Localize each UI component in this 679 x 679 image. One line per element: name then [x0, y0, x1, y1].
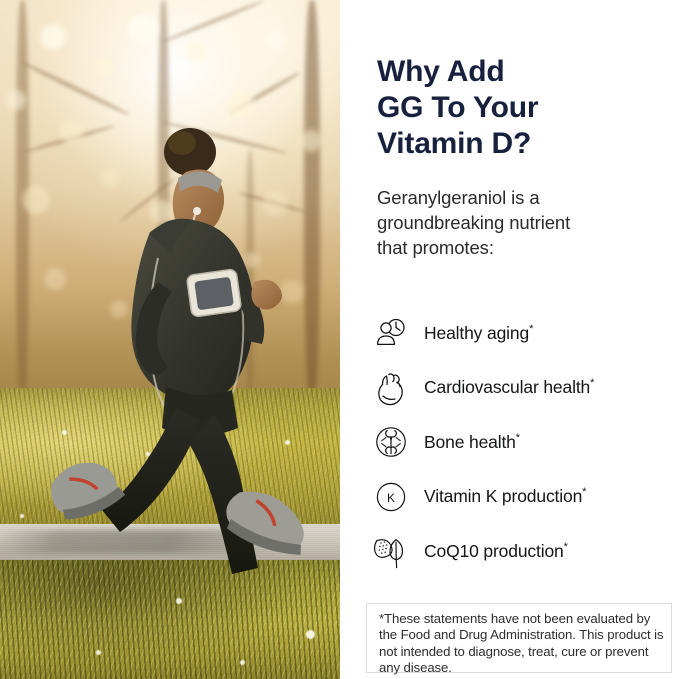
subhead-line-1: Geranylgeraniol is a: [377, 187, 540, 208]
list-item: CoQ10 production*: [368, 524, 678, 579]
letter-k-glyph: K: [387, 491, 395, 505]
asterisk-marker: *: [564, 541, 568, 553]
person-clock-aging-icon: [368, 312, 414, 354]
subheading: Geranylgeraniol is a groundbreaking nutr…: [377, 185, 655, 260]
ad-canvas: Why Add GG To Your Vitamin D? Geranylger…: [0, 0, 679, 679]
phone-screen: [194, 277, 234, 311]
headline-line-2: GG To Your: [377, 91, 538, 124]
disclaimer-text: *These statements have not been evaluate…: [379, 611, 667, 677]
runner-rear-leg: [102, 408, 200, 532]
headline-line-3: Vitamin D?: [377, 127, 531, 160]
list-item-label: CoQ10 production*: [414, 541, 568, 562]
runner-hair-bun-highlight: [168, 131, 196, 155]
two-leaves-icon: [368, 530, 414, 572]
asterisk-marker: *: [590, 377, 594, 389]
list-item: Cardiovascular health*: [368, 361, 678, 416]
list-item-label: Healthy aging*: [414, 323, 533, 344]
subhead-line-2: groundbreaking nutrient: [377, 212, 570, 233]
asterisk-marker: *: [529, 323, 533, 335]
asterisk-marker: *: [516, 432, 520, 444]
anatomical-heart-icon: [368, 367, 414, 409]
list-item-label: Cardiovascular health*: [414, 377, 594, 398]
page-title: Why Add GG To Your Vitamin D?: [377, 54, 657, 162]
headline-line-1: Why Add: [377, 55, 504, 88]
subhead-line-3: that promotes:: [377, 237, 494, 258]
earbud: [193, 207, 201, 215]
benefits-list: Healthy aging* Cardiovascular health*: [368, 306, 678, 579]
list-item: Bone health*: [368, 415, 678, 470]
bone-joint-circle-icon: [368, 421, 414, 463]
content-panel: Why Add GG To Your Vitamin D? Geranylger…: [340, 0, 679, 679]
letter-k-circle-icon: K: [368, 476, 414, 518]
list-item-label: Vitamin K production*: [414, 486, 586, 507]
asterisk-marker: *: [582, 486, 586, 498]
leaf-texture-dots: [379, 541, 388, 554]
disclaimer-line-1: *These statements have not been evaluate…: [379, 611, 633, 626]
list-item-label: Bone health*: [414, 432, 520, 453]
disclaimer-box: *These statements have not been evaluate…: [366, 603, 672, 673]
list-item: K Vitamin K production*: [368, 470, 678, 525]
runner-figure: [0, 0, 340, 679]
list-item: Healthy aging*: [368, 306, 678, 361]
runner-hand: [251, 280, 282, 310]
hero-photo: [0, 0, 340, 679]
